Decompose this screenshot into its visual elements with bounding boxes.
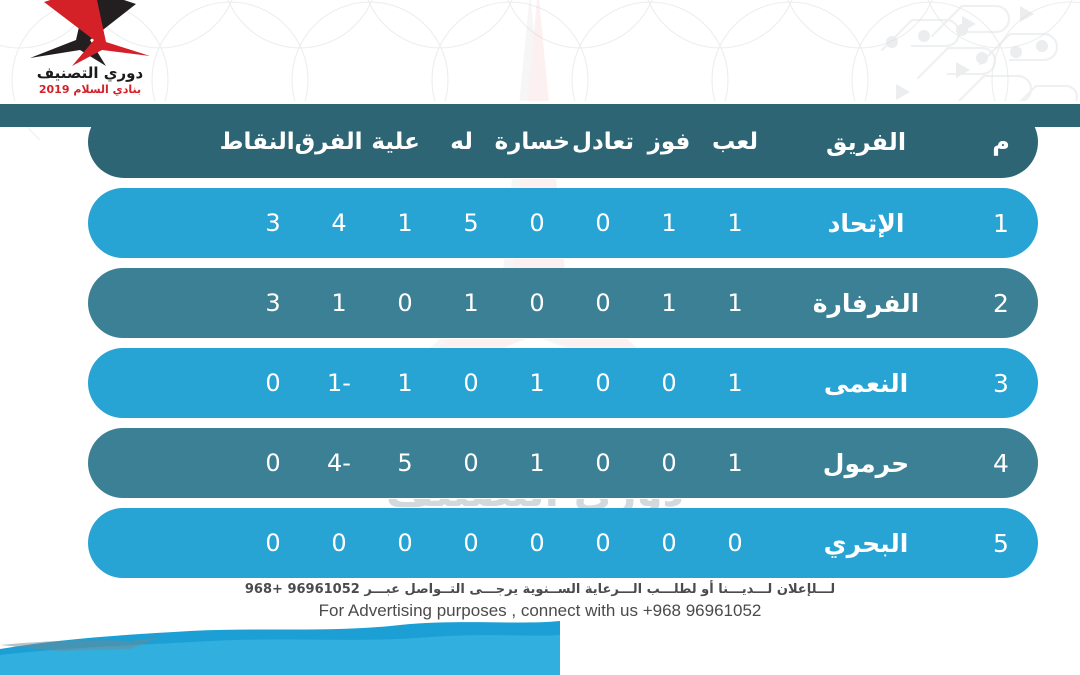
cell-played: 1 <box>702 211 768 235</box>
star-logo-icon <box>10 0 170 66</box>
column-header-points: النقاط <box>220 131 295 154</box>
cell-played: 1 <box>702 451 768 475</box>
logo-subtitle: بنادي السلام 2019 <box>10 83 170 96</box>
cell-for: 0 <box>438 531 504 555</box>
league-logo: دوري التصنيف بنادي السلام 2019 <box>10 0 170 108</box>
column-header-for: له <box>429 131 495 154</box>
cell-team: البحري <box>768 531 964 556</box>
column-header-against: علية <box>363 131 429 154</box>
cell-diff: 4 <box>306 211 372 235</box>
column-header-draw: تعادل <box>570 131 636 154</box>
cell-no: 2 <box>964 291 1038 316</box>
cell-points: 0 <box>240 371 306 395</box>
cell-win: 0 <box>636 531 702 555</box>
cell-loss: 1 <box>504 371 570 395</box>
table-row[interactable]: 4 حرمول 1 0 0 1 0 5 -4 0 <box>88 428 1038 498</box>
column-header-loss: خسارة <box>495 131 570 154</box>
cell-no: 3 <box>964 371 1038 396</box>
cell-draw: 0 <box>570 451 636 475</box>
cell-for: 0 <box>438 371 504 395</box>
cell-no: 5 <box>964 531 1038 556</box>
cell-points: 0 <box>240 531 306 555</box>
cell-no: 4 <box>964 451 1038 476</box>
cell-loss: 1 <box>504 451 570 475</box>
cell-against: 1 <box>372 211 438 235</box>
cell-draw: 0 <box>570 291 636 315</box>
cell-team: النعمى <box>768 371 964 396</box>
cell-points: 3 <box>240 211 306 235</box>
table-row[interactable]: 3 النعمى 1 0 0 1 0 1 -1 0 <box>88 348 1038 418</box>
cell-against: 5 <box>372 451 438 475</box>
cell-played: 1 <box>702 371 768 395</box>
cell-played: 0 <box>702 531 768 555</box>
cell-draw: 0 <box>570 371 636 395</box>
cell-win: 0 <box>636 371 702 395</box>
cell-team: الفرفارة <box>768 291 964 316</box>
cell-diff: -4 <box>306 451 372 475</box>
cell-team: الإتحاد <box>768 211 964 236</box>
cell-draw: 0 <box>570 211 636 235</box>
standings-table: م الفريق لعب فوز تعادل خسارة له علية الف… <box>88 106 1038 588</box>
brush-stroke-decoration <box>0 615 560 675</box>
cell-win: 0 <box>636 451 702 475</box>
cell-win: 1 <box>636 291 702 315</box>
cell-against: 0 <box>372 531 438 555</box>
cell-diff: 1 <box>306 291 372 315</box>
cell-points: 0 <box>240 451 306 475</box>
column-header-team: الفريق <box>768 130 964 154</box>
footer: لـــلإعلان لـــديـــنا أو لطلـــب الـــر… <box>0 582 1080 621</box>
table-header-row: م الفريق لعب فوز تعادل خسارة له علية الف… <box>88 106 1038 178</box>
cell-for: 5 <box>438 211 504 235</box>
table-row[interactable]: 1 الإتحاد 1 1 0 0 5 1 4 3 <box>88 188 1038 258</box>
cell-played: 1 <box>702 291 768 315</box>
logo-title: دوري التصنيف <box>10 64 170 82</box>
cell-no: 1 <box>964 211 1038 236</box>
footer-english-text: For Advertising purposes , connect with … <box>0 601 1080 621</box>
cell-draw: 0 <box>570 531 636 555</box>
column-header-no: م <box>964 130 1038 154</box>
cell-win: 1 <box>636 211 702 235</box>
column-header-diff: الفرق <box>295 131 363 154</box>
column-header-played: لعب <box>702 131 768 154</box>
table-row[interactable]: 5 البحري 0 0 0 0 0 0 0 0 <box>88 508 1038 578</box>
cell-against: 1 <box>372 371 438 395</box>
cell-loss: 0 <box>504 531 570 555</box>
table-row[interactable]: 2 الفرفارة 1 1 0 0 1 0 1 3 <box>88 268 1038 338</box>
cell-loss: 0 <box>504 291 570 315</box>
cell-diff: -1 <box>306 371 372 395</box>
cell-against: 0 <box>372 291 438 315</box>
cell-for: 0 <box>438 451 504 475</box>
cell-for: 1 <box>438 291 504 315</box>
column-header-win: فوز <box>636 131 702 154</box>
cell-team: حرمول <box>768 451 964 476</box>
cell-points: 3 <box>240 291 306 315</box>
cell-loss: 0 <box>504 211 570 235</box>
footer-arabic-text: لـــلإعلان لـــديـــنا أو لطلـــب الـــر… <box>0 582 1080 597</box>
cell-diff: 0 <box>306 531 372 555</box>
